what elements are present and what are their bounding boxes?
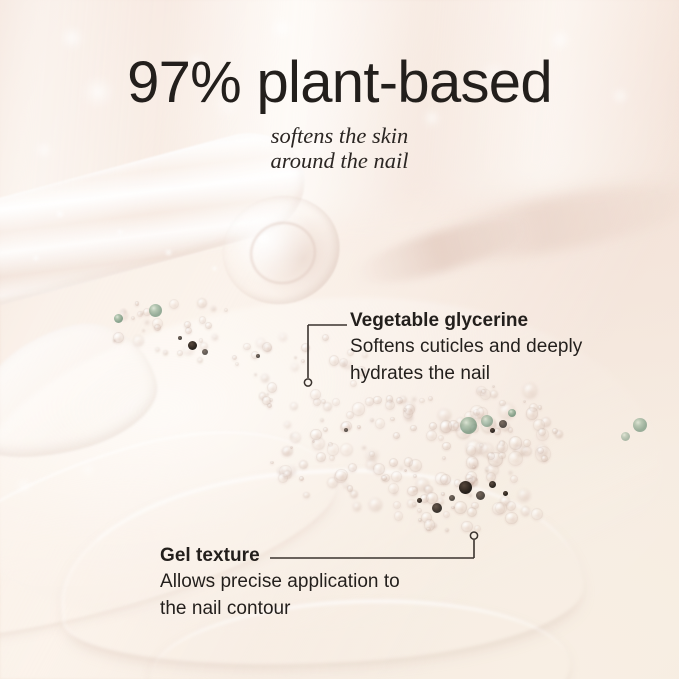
product-feature-graphic: 97% plant-based softens the skin around … [0,0,679,679]
callout-title-gel-texture: Gel texture [160,543,400,569]
leader-marker-circle-gel-texture [470,532,477,539]
callout-body-line-2: the nail contour [160,596,400,623]
callout-gel-texture: Gel texture Allows precise application t… [160,543,400,622]
page-title: 97% plant-based [0,54,679,112]
callout-body-line-2: hydrates the nail [350,361,582,388]
subtitle-line-2: around the nail [0,148,679,173]
leader-line-vegetable-glycerine [300,316,352,392]
callout-body-gel-texture: Allows precise application to the nail c… [160,569,400,622]
callout-body-vegetable-glycerine: Softens cuticles and deeply hydrates the… [350,334,582,387]
callout-body-line-1: Softens cuticles and deeply [350,334,582,361]
subtitle-line-1: softens the skin [0,123,679,148]
subtitle: softens the skin around the nail [0,123,679,173]
leader-marker-circle-vegetable-glycerine [304,379,311,386]
callout-body-line-1: Allows precise application to [160,569,400,596]
callout-title-vegetable-glycerine: Vegetable glycerine [350,308,582,334]
callout-vegetable-glycerine: Vegetable glycerine Softens cuticles and… [350,308,582,387]
